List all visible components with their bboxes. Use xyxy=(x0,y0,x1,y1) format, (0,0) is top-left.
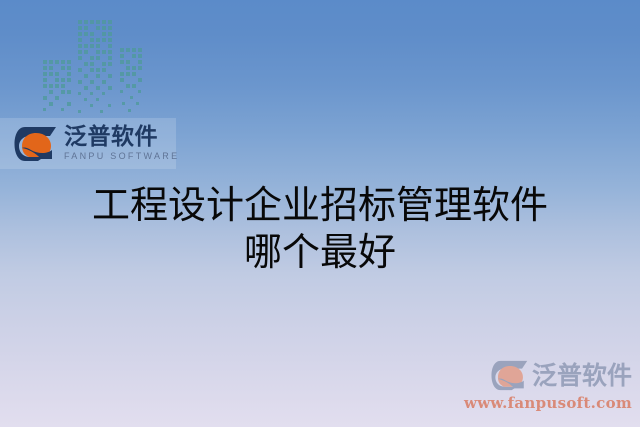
page-title-line-1: 工程设计企业招标管理软件 xyxy=(0,182,640,229)
brand-name-cn: 泛普软件 xyxy=(64,126,179,149)
fanpu-swoosh-watermark-icon xyxy=(491,360,529,391)
page-title: 工程设计企业招标管理软件 哪个最好 xyxy=(0,182,640,276)
watermark-brand-name: 泛普软件 xyxy=(532,363,632,388)
watermark: 泛普软件 www.fanpusoft.com xyxy=(464,357,632,419)
fanpu-swoosh-logo-icon xyxy=(14,126,58,162)
brand-wordmark: 泛普软件 FANPU SOFTWARE xyxy=(64,126,179,161)
page-title-line-2: 哪个最好 xyxy=(0,229,640,276)
brand-name-en: FANPU SOFTWARE xyxy=(64,152,179,161)
brand-logo: 泛普软件 FANPU SOFTWARE xyxy=(0,118,176,169)
pixel-city-skyline-icon xyxy=(42,14,150,118)
promo-banner: 泛普软件 FANPU SOFTWARE 工程设计企业招标管理软件 哪个最好 泛普… xyxy=(0,0,640,427)
watermark-brand-row: 泛普软件 xyxy=(464,357,632,393)
watermark-url: www.fanpusoft.com xyxy=(464,394,632,412)
